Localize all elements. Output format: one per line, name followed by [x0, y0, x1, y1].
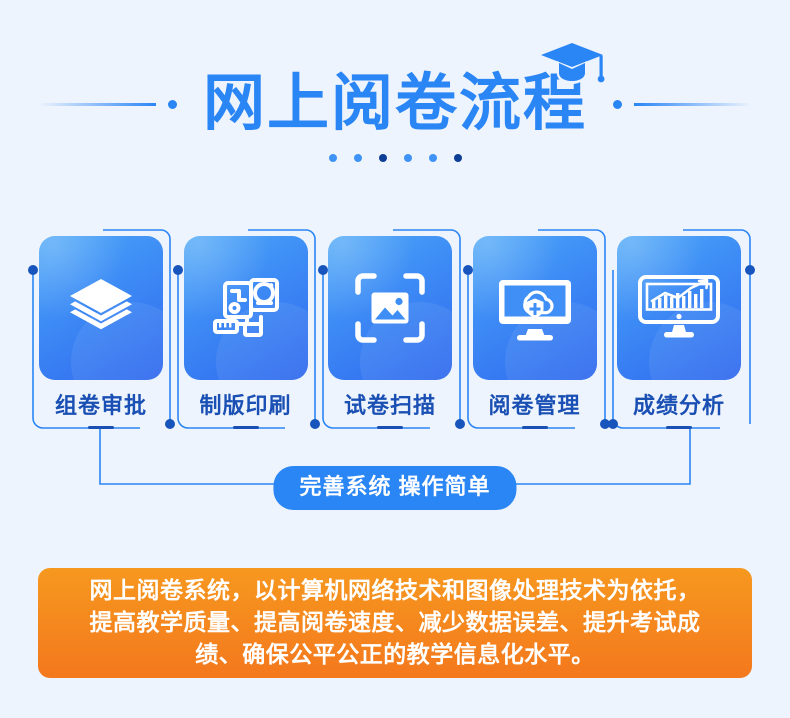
title-dot-1 — [329, 154, 337, 162]
summary-panel: 网上阅卷系统，以计算机网络技术和图像处理技术为依托， 提高教学质量、提高阅卷速度… — [38, 568, 752, 678]
monitor-chart-icon — [638, 271, 720, 345]
step-label-5: 成绩分析 — [633, 395, 725, 417]
step-tile-5[interactable] — [617, 236, 741, 380]
step-label-2: 制版印刷 — [199, 395, 291, 417]
title-dot-row — [0, 154, 790, 162]
title-dot-5 — [429, 154, 437, 162]
step-card-3[interactable]: 试卷扫描 — [322, 236, 458, 429]
infographic-page: 网上阅卷流程 — [0, 0, 790, 718]
title-dot-left — [168, 100, 177, 109]
step-label-4: 阅卷管理 — [488, 395, 580, 417]
step-card-list: 组卷审批 — [33, 236, 757, 429]
title-rule-right — [634, 103, 752, 106]
step-card-4[interactable]: 阅卷管理 — [467, 236, 603, 429]
step-underline-1 — [88, 426, 114, 429]
step-card-1[interactable]: 组卷审批 — [33, 236, 169, 429]
title-dot-6 — [454, 154, 462, 162]
page-title-text: 网上阅卷流程 — [203, 69, 587, 138]
step-underline-3 — [377, 426, 403, 429]
monitor-shield-icon — [495, 272, 575, 344]
step-tile-4[interactable] — [473, 236, 597, 380]
step-underline-4 — [522, 426, 548, 429]
title-dot-4 — [404, 154, 412, 162]
step-label-3: 试卷扫描 — [344, 395, 436, 417]
title-dot-right — [613, 100, 622, 109]
layers-stack-icon — [64, 271, 138, 345]
step-label-1: 组卷审批 — [55, 395, 147, 417]
title-dot-2 — [354, 154, 362, 162]
printing-press-icon — [207, 271, 285, 345]
scan-image-icon — [352, 270, 428, 346]
step-tile-3[interactable] — [328, 236, 452, 380]
step-underline-2 — [233, 426, 259, 429]
step-card-5[interactable]: 成绩分析 — [611, 236, 747, 429]
summary-text: 网上阅卷系统，以计算机网络技术和图像处理技术为依托， 提高教学质量、提高阅卷速度… — [90, 575, 701, 670]
title-dot-3 — [379, 154, 387, 162]
summary-line-1: 网上阅卷系统，以计算机网络技术和图像处理技术为依托， — [90, 575, 701, 607]
summary-line-2: 提高教学质量、提高阅卷速度、减少数据误差、提升考试成 — [90, 607, 701, 639]
step-tile-2[interactable] — [184, 236, 308, 380]
page-title: 网上阅卷流程 — [189, 73, 601, 135]
step-card-2[interactable]: 制版印刷 — [178, 236, 314, 429]
title-block: 网上阅卷流程 — [0, 58, 790, 178]
step-underline-5 — [666, 426, 692, 429]
graduation-cap-icon — [537, 39, 607, 93]
step-tile-1[interactable] — [39, 236, 163, 380]
summary-line-3: 绩、确保公平公正的教学信息化水平。 — [90, 639, 701, 671]
feature-badge: 完善系统 操作简单 — [273, 466, 516, 510]
title-rule-left — [38, 103, 156, 106]
title-row: 网上阅卷流程 — [0, 58, 790, 150]
